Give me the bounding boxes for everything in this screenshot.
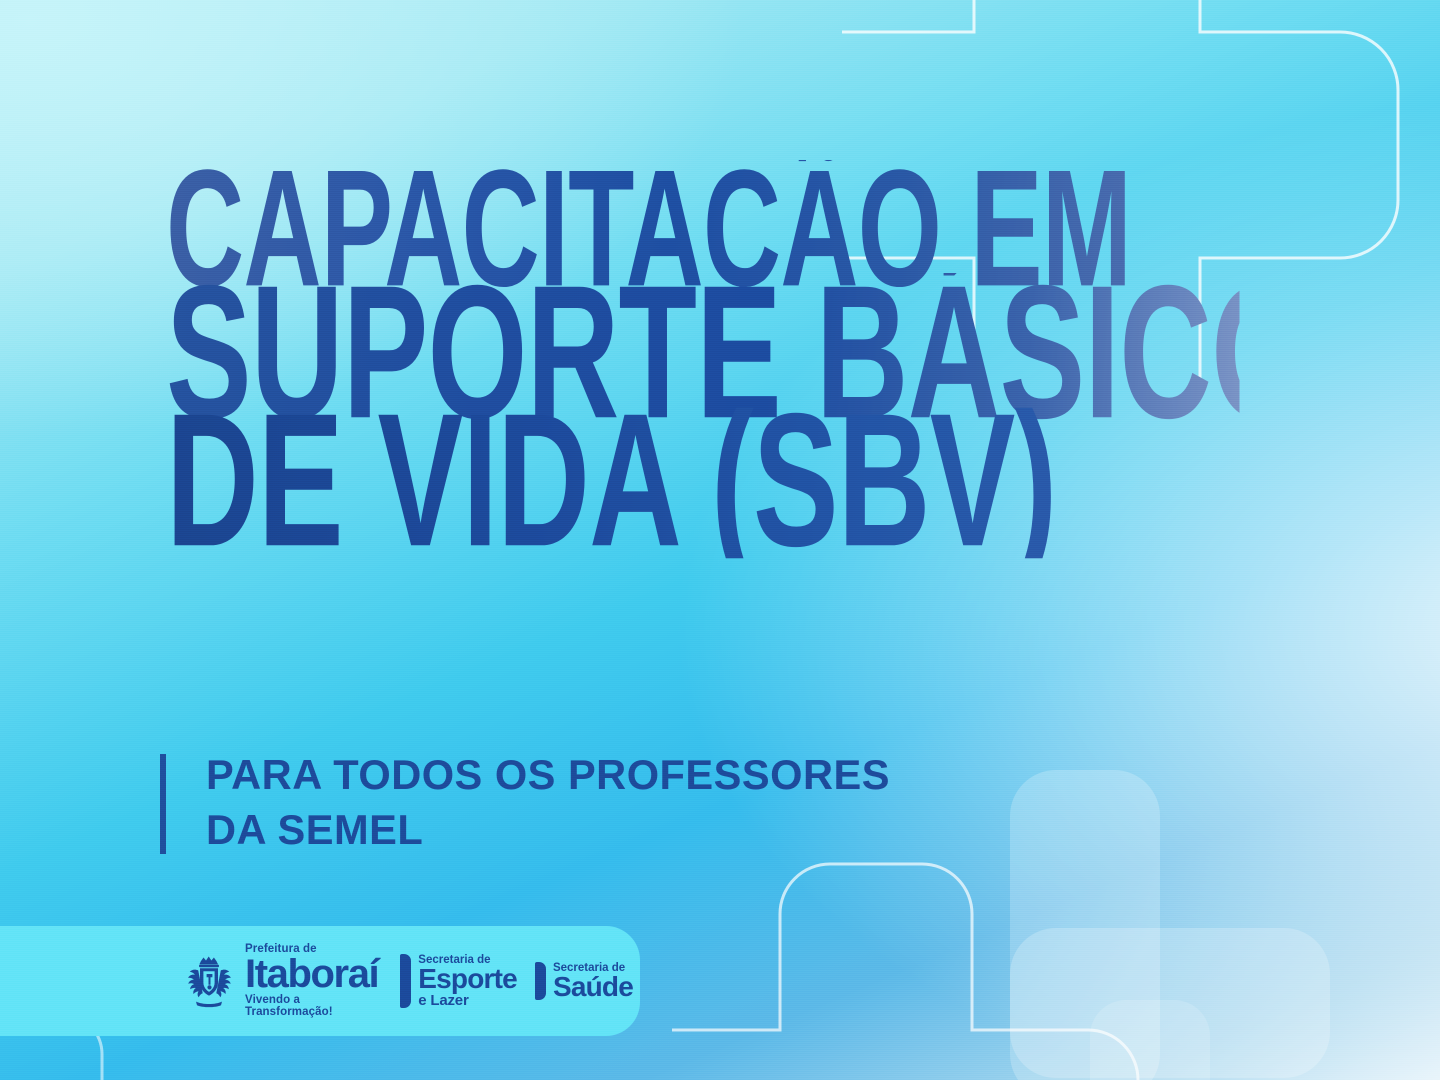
secretaria-esporte-bar-icon [400,954,411,1008]
secretaria-saude-lockup: Secretaria de Saúde [535,962,633,1000]
secretaria-esporte-tail: e Lazer [418,993,517,1008]
secretaria-esporte-name: Esporte [418,966,517,992]
subtitle-accent-rule [160,754,166,854]
headline-line-3: DE VIDA (SBV) [166,401,1240,559]
prefeitura-lockup: Prefeitura de Itaboraí Vivendo a Transfo… [245,944,378,1018]
logo-bar-inner: Prefeitura de Itaboraí Vivendo a Transfo… [0,944,651,1018]
prefeitura-name: Itaboraí [245,956,378,993]
subtitle-text: PARA TODOS OS PROFESSORES DA SEMEL [206,748,890,857]
poster-subtitle-block: PARA TODOS OS PROFESSORES DA SEMEL [160,748,897,857]
secretaria-esporte-lazer-lockup: Secretaria de Esporte e Lazer [400,954,517,1008]
prefeitura-tagline: Vivendo a Transformação! [245,995,378,1018]
coat-of-arms-icon [182,952,236,1010]
logo-bar: Prefeitura de Itaboraí Vivendo a Transfo… [0,926,640,1036]
poster-headline: CAPACITAÇÃO EM SUPORTE BÁSICO DE VIDA (S… [166,160,1386,522]
secretaria-saude-bar-icon [535,962,546,1000]
poster-canvas: CAPACITAÇÃO EM SUPORTE BÁSICO DE VIDA (S… [0,0,1440,1080]
secretaria-saude-name: Saúde [553,974,633,1000]
plus-cross-filled-accent-shape [1090,1000,1210,1080]
